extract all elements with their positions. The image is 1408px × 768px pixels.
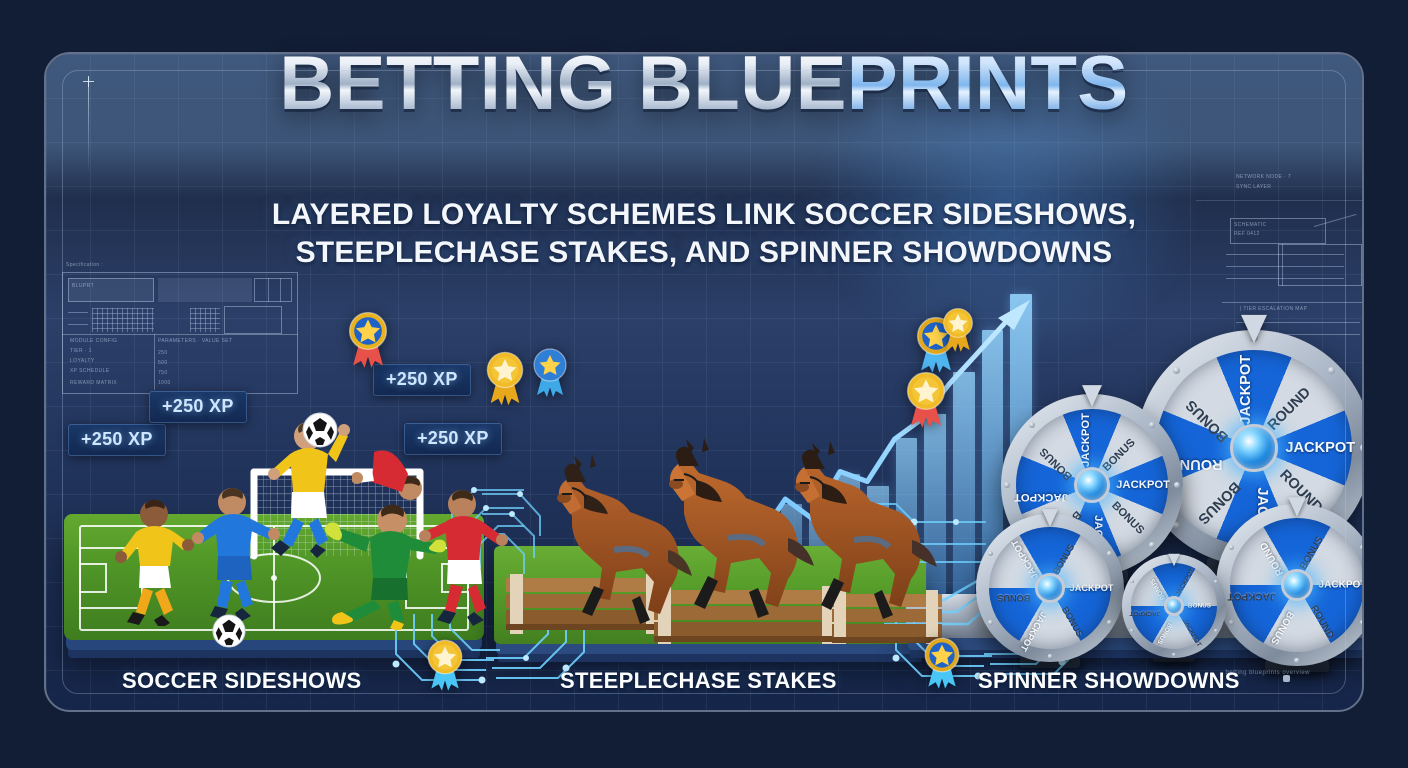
wheel-segment-label: JACKPOT [1228, 591, 1276, 602]
wheel-stud [1130, 629, 1133, 632]
wheel-segment-label: JACKPOT [1129, 610, 1160, 617]
star-medal-blue-icon [530, 345, 570, 399]
wheel-segment-label: JACKPOT [1319, 580, 1362, 591]
wheel-segment-label: BONUS [997, 593, 1030, 603]
chart-bar [953, 372, 975, 594]
wheel-segment-label: JACKPOT [1285, 440, 1355, 456]
wheel-pointer-icon [1168, 554, 1179, 566]
wheel-stud [1294, 658, 1299, 663]
star-medal-blue-icon [345, 308, 391, 370]
artwork-canvas: Specification : BLUPRT MODULE CONFIG TIE… [46, 54, 1362, 710]
frame-tick-cross [83, 76, 94, 87]
wheel-stud [1174, 482, 1180, 488]
blueprint-schematic-left: Specification : BLUPRT MODULE CONFIG TIE… [62, 272, 298, 394]
wheel-pointer-icon [1042, 509, 1058, 527]
soccer-ball-2 [212, 614, 246, 648]
wheel-hub[interactable] [1035, 573, 1065, 603]
section-label-steeplechase-stakes: STEEPLECHASE STAKES [560, 668, 837, 694]
poster-stage: Specification : BLUPRT MODULE CONFIG TIE… [0, 0, 1408, 768]
wheel-segment-label: JACKPOT [1116, 479, 1170, 491]
page-title-part1: BETTING BLUE [279, 41, 847, 126]
xp-badge[interactable]: +250 XP [149, 391, 247, 423]
wheel-segment-label: BONUS [1188, 603, 1211, 610]
wheel-stud [1149, 422, 1155, 428]
wheel-small-center[interactable]: BONUSJACKPOTBONUSJACKPOTBONUSJACKPOT [1122, 554, 1226, 658]
soccer-ball-1 [302, 412, 338, 448]
page-title: BETTING BLUEPRINTS [279, 46, 1128, 122]
star-medal-gold-icon [940, 305, 976, 354]
frame-corner-node [1283, 675, 1290, 682]
page-title-part2: PRINTS [847, 41, 1129, 126]
xp-badge[interactable]: +250 XP [68, 424, 166, 456]
race-horse-3 [766, 442, 944, 634]
wheel-pointer-icon [1288, 497, 1306, 516]
wheel-stud [988, 620, 993, 625]
footer-caption: betting blueprints overview [1225, 670, 1310, 676]
page-title-wrap: BETTING BLUEPRINTS [0, 46, 1408, 122]
wheel-stud [1172, 653, 1175, 656]
wheel-hub[interactable] [1074, 467, 1110, 503]
xp-badge[interactable]: +250 XP [404, 423, 502, 455]
page-subtitle-line1: LAYERED LOYALTY SCHEMES LINK SOCCER SIDE… [0, 196, 1408, 234]
wheel-pointer-icon [1241, 315, 1267, 343]
page-subtitle: LAYERED LOYALTY SCHEMES LINK SOCCER SIDE… [0, 196, 1408, 273]
wheel-segment-label: JACKPOT [1238, 355, 1254, 425]
wheel-lower-left[interactable]: JACKPOTBONUSJACKPOTBONUSJACKPOTBONUS [976, 514, 1124, 662]
star-medal-gold-icon [903, 368, 949, 430]
page-subtitle-line2: STEEPLECHASE STAKES, AND SPINNER SHOWDOW… [0, 234, 1408, 272]
wheel-lower-right[interactable]: JACKPOTROUNDBONUSJACKPOTROUNDBONUS [1216, 504, 1362, 666]
star-medal-gold-icon [483, 348, 527, 407]
wheel-stud [1360, 545, 1362, 550]
wheel-stud [1360, 444, 1362, 452]
star-medal-blue-ribbon-cyan-icon [921, 634, 963, 691]
wheel-hub[interactable] [1230, 424, 1277, 471]
wheel-segment-label: JACKPOT [1080, 413, 1092, 467]
wheel-segment-label: JACKPOT [1070, 583, 1114, 593]
star-medal-gold-ribbon-cyan-icon [424, 636, 466, 693]
wheel-pointer-icon [1082, 385, 1102, 407]
wheel-segment-label: JACKPOT [1014, 491, 1068, 503]
wheel-stud [1214, 629, 1217, 632]
wheel-stud [988, 551, 993, 556]
section-label-spinner-showdowns: SPINNER SHOWDOWNS [978, 668, 1240, 694]
frame-tick-line [88, 78, 89, 174]
wheel-stud [1360, 620, 1362, 625]
wheel-stud [1149, 542, 1155, 548]
wheel-stud [1107, 551, 1112, 556]
section-label-soccer-sideshows: SOCCER SIDESHOWS [122, 668, 362, 694]
soccer-player-red-1 [418, 484, 514, 628]
wheel-stud [1107, 620, 1112, 625]
